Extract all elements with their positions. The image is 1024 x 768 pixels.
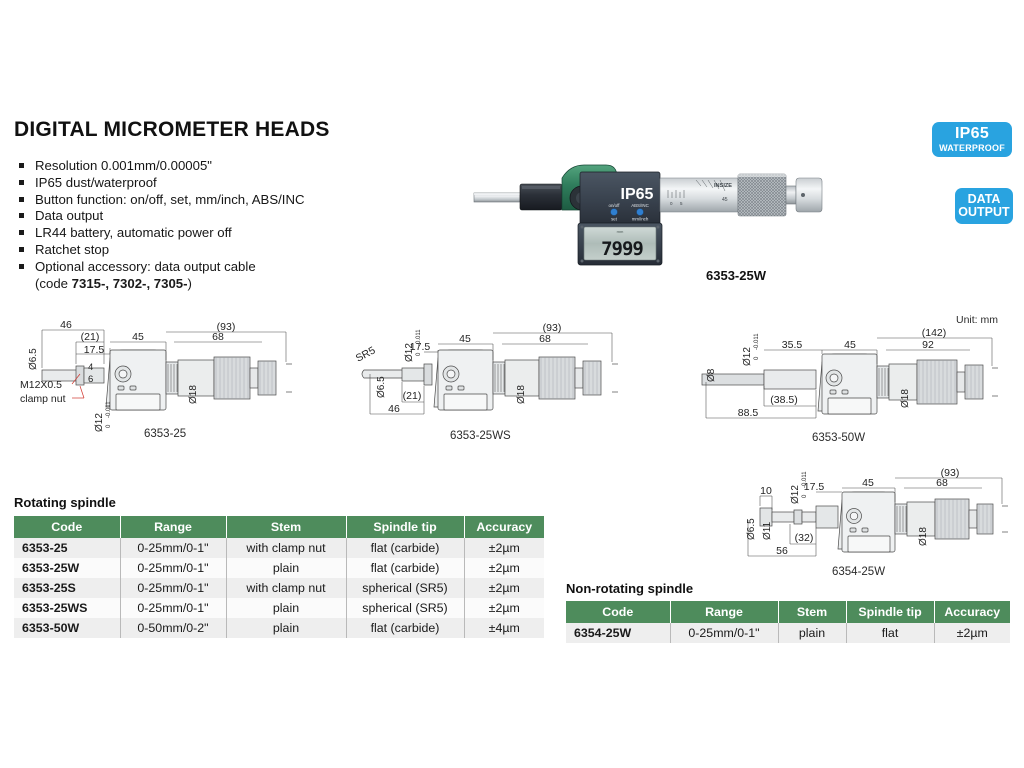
dim-32: (32) bbox=[795, 532, 814, 544]
drawing-label: 6354-25W bbox=[832, 566, 885, 578]
rotating-spindle-table: Code Range Stem Spindle tip Accuracy 635… bbox=[14, 516, 544, 638]
cell-spindle-tip: flat (carbide) bbox=[346, 618, 464, 638]
column-header-accuracy: Accuracy bbox=[464, 516, 544, 538]
list-item-label: IP65 dust/waterproof bbox=[35, 175, 157, 190]
list-item-label: Optional accessory: data output cable bbox=[35, 259, 256, 274]
table-row: 6354-25W 0-25mm/0-1" plain flat ±2µm bbox=[566, 623, 1010, 643]
cell-stem: plain bbox=[778, 623, 846, 643]
dim-45: 45 bbox=[459, 333, 471, 345]
photo-caption: 6353-25W bbox=[706, 268, 766, 283]
drawing-6353-25: 46 (21) 17.5 45 68 (93) 4 6 Ø6.5 Ø12 0 -… bbox=[14, 312, 314, 452]
dim-dia-18: Ø18 bbox=[918, 527, 929, 546]
column-header-range: Range bbox=[120, 516, 226, 538]
cell-code: 6353-50W bbox=[14, 618, 120, 638]
svg-text:45: 45 bbox=[722, 197, 728, 203]
column-header-accuracy: Accuracy bbox=[934, 601, 1010, 623]
label-clamp-nut: clamp nut bbox=[20, 393, 66, 405]
dim-93: (93) bbox=[543, 322, 562, 334]
badge-ip65-line1: IP65 bbox=[955, 126, 989, 142]
dim-dia-18: Ø18 bbox=[900, 389, 911, 408]
dim-88-5: 88.5 bbox=[738, 407, 759, 419]
dim-dia-12: Ø12 bbox=[94, 413, 105, 432]
list-item: IP65 dust/waterproof bbox=[18, 175, 418, 192]
cell-code: 6353-25S bbox=[14, 578, 120, 598]
label-thread: M12X0.5 bbox=[20, 379, 62, 391]
bullet-square-icon bbox=[19, 180, 24, 185]
code-suffix: ) bbox=[188, 276, 192, 291]
drawing-label: 6353-25WS bbox=[450, 430, 511, 442]
list-item: Data output bbox=[18, 208, 418, 225]
cell-stem: with clamp nut bbox=[226, 578, 346, 598]
cell-range: 0-25mm/0-1" bbox=[670, 623, 778, 643]
dim-dia-6-5: Ø6.5 bbox=[376, 376, 387, 398]
list-item-label: LR44 battery, automatic power off bbox=[35, 225, 232, 240]
svg-text:-0.011: -0.011 bbox=[754, 333, 760, 350]
list-item: Optional accessory: data output cable bbox=[18, 259, 418, 276]
column-header-stem: Stem bbox=[778, 601, 846, 623]
cell-stem: plain bbox=[226, 598, 346, 618]
cell-code: 6353-25WS bbox=[14, 598, 120, 618]
dim-93: (93) bbox=[941, 468, 960, 479]
dim-17-5: 17.5 bbox=[84, 344, 105, 356]
cell-stem: plain bbox=[226, 618, 346, 638]
column-header-code: Code bbox=[14, 516, 120, 538]
cell-stem: with clamp nut bbox=[226, 538, 346, 558]
cell-spindle-tip: spherical (SR5) bbox=[346, 598, 464, 618]
bullet-square-icon bbox=[19, 264, 24, 269]
cell-code: 6353-25 bbox=[14, 538, 120, 558]
table-row: 6353-25W 0-25mm/0-1" plain flat (carbide… bbox=[14, 558, 544, 578]
non-rotating-spindle-title: Non-rotating spindle bbox=[566, 581, 693, 596]
column-header-code: Code bbox=[566, 601, 670, 623]
code-prefix: (code bbox=[35, 276, 72, 291]
cell-range: 0-25mm/0-1" bbox=[120, 538, 226, 558]
feature-list: Resolution 0.001mm/0.00005" IP65 dust/wa… bbox=[18, 158, 418, 292]
svg-text:0: 0 bbox=[106, 424, 112, 428]
dim-45: 45 bbox=[844, 339, 856, 351]
dim-45: 45 bbox=[862, 477, 874, 489]
table-row: 6353-25 0-25mm/0-1" with clamp nut flat … bbox=[14, 538, 544, 558]
cell-accuracy: ±4µm bbox=[464, 618, 544, 638]
product-photo: IP65 on/off set ABS/INC mm/inch mm 7999 … bbox=[470, 160, 830, 270]
table-row: 6353-25WS 0-25mm/0-1" plain spherical (S… bbox=[14, 598, 544, 618]
svg-text:mm: mm bbox=[617, 229, 624, 234]
dim-46: 46 bbox=[388, 403, 400, 415]
list-item-label: Ratchet stop bbox=[35, 242, 109, 257]
dim-dia-8: Ø8 bbox=[706, 368, 717, 382]
svg-text:0: 0 bbox=[754, 356, 760, 360]
table-row: 6353-50W 0-50mm/0-2" plain flat (carbide… bbox=[14, 618, 544, 638]
table-header-row: Code Range Stem Spindle tip Accuracy bbox=[566, 601, 1010, 623]
photo-button-right-top-label: ABS/INC bbox=[631, 203, 649, 208]
photo-button-left-top-label: on/off bbox=[609, 203, 621, 208]
dim-142: (142) bbox=[922, 327, 947, 339]
photo-button-left-bottom-label: set bbox=[611, 217, 618, 222]
table-header-row: Code Range Stem Spindle tip Accuracy bbox=[14, 516, 544, 538]
cell-stem: plain bbox=[226, 558, 346, 578]
dim-68: 68 bbox=[539, 333, 551, 345]
dim-93: (93) bbox=[217, 321, 236, 333]
dim-56: 56 bbox=[776, 545, 788, 557]
drawing-label: 6353-25 bbox=[144, 428, 186, 440]
accessory-codes: 7315-, 7302-, 7305- bbox=[72, 276, 188, 291]
drawing-6354-25W: 10 17.5 45 68 (93) (32) 56 Ø6.5 Ø11 Ø12 … bbox=[742, 468, 1017, 588]
cell-spindle-tip: spherical (SR5) bbox=[346, 578, 464, 598]
svg-text:0: 0 bbox=[802, 494, 808, 498]
dim-sr5: SR5 bbox=[354, 344, 378, 364]
bullet-square-icon bbox=[19, 213, 24, 218]
bullet-square-icon bbox=[19, 230, 24, 235]
cell-code: 6353-25W bbox=[14, 558, 120, 578]
dim-10: 10 bbox=[760, 485, 772, 497]
cell-accuracy: ±2µm bbox=[464, 578, 544, 598]
cell-range: 0-25mm/0-1" bbox=[120, 598, 226, 618]
photo-button-right-bottom-label: mm/inch bbox=[632, 217, 649, 222]
column-header-range: Range bbox=[670, 601, 778, 623]
cell-spindle-tip: flat bbox=[846, 623, 934, 643]
svg-text:-0.011: -0.011 bbox=[802, 471, 808, 488]
cell-accuracy: ±2µm bbox=[464, 598, 544, 618]
photo-brand-mark: INSIZE bbox=[714, 183, 732, 189]
badge-ip65-waterproof: IP65 WATERPROOF bbox=[932, 122, 1012, 157]
badge-data-output: DATA OUTPUT bbox=[955, 188, 1013, 224]
list-item: Ratchet stop bbox=[18, 242, 418, 259]
dim-35-5: 35.5 bbox=[782, 339, 803, 351]
list-item-label: Resolution 0.001mm/0.00005" bbox=[35, 158, 212, 173]
dim-92: 92 bbox=[922, 339, 934, 351]
drawing-6353-25WS: 17.5 45 68 (93) (21) 46 SR5 Ø6.5 Ø12 0 -… bbox=[352, 318, 642, 453]
bullet-square-icon bbox=[19, 247, 24, 252]
accessory-code-line: (code 7315-, 7302-, 7305-) bbox=[18, 276, 418, 293]
badge-ip65-line2: WATERPROOF bbox=[939, 144, 1005, 153]
photo-lcd-value: 7999 bbox=[601, 238, 643, 260]
dim-dia-18: Ø18 bbox=[516, 385, 527, 404]
dim-46: 46 bbox=[60, 319, 72, 331]
list-item: LR44 battery, automatic power off bbox=[18, 225, 418, 242]
bullet-square-icon bbox=[19, 197, 24, 202]
cell-spindle-tip: flat (carbide) bbox=[346, 538, 464, 558]
list-item-label: Data output bbox=[35, 208, 103, 223]
photo-body-text: IP65 bbox=[621, 186, 654, 203]
page-title: DIGITAL MICROMETER HEADS bbox=[14, 118, 330, 142]
dim-dia-12: Ø12 bbox=[404, 343, 415, 362]
non-rotating-spindle-table: Code Range Stem Spindle tip Accuracy 635… bbox=[566, 601, 1010, 643]
badge-data-line2: OUTPUT bbox=[958, 206, 1009, 219]
dim-dia-12: Ø12 bbox=[742, 347, 753, 366]
dim-4: 4 bbox=[88, 362, 93, 373]
svg-text:-0.011: -0.011 bbox=[106, 401, 112, 418]
cell-spindle-tip: flat (carbide) bbox=[346, 558, 464, 578]
bullet-square-icon bbox=[19, 163, 24, 168]
cell-range: 0-25mm/0-1" bbox=[120, 558, 226, 578]
dim-21: (21) bbox=[81, 331, 100, 343]
cell-accuracy: ±2µm bbox=[464, 558, 544, 578]
cell-range: 0-50mm/0-2" bbox=[120, 618, 226, 638]
cell-accuracy: ±2µm bbox=[464, 538, 544, 558]
list-item: Resolution 0.001mm/0.00005" bbox=[18, 158, 418, 175]
rotating-spindle-title: Rotating spindle bbox=[14, 495, 116, 510]
drawing-6353-50W: 35.5 45 92 (142) (38.5) 88.5 Ø8 Ø12 0 -0… bbox=[700, 320, 1010, 455]
dim-dia-12: Ø12 bbox=[790, 485, 801, 504]
dim-21: (21) bbox=[403, 390, 422, 402]
dim-38-5: (38.5) bbox=[770, 394, 797, 406]
drawing-label: 6353-50W bbox=[812, 432, 865, 444]
dim-dia-11: Ø11 bbox=[762, 521, 773, 540]
dim-45: 45 bbox=[132, 331, 144, 343]
cell-accuracy: ±2µm bbox=[934, 623, 1010, 643]
dim-dia-18: Ø18 bbox=[188, 385, 199, 404]
dim-dia-6-5: Ø6.5 bbox=[28, 348, 39, 370]
cell-code: 6354-25W bbox=[566, 623, 670, 643]
dim-dia-6-5: Ø6.5 bbox=[746, 518, 757, 540]
cell-range: 0-25mm/0-1" bbox=[120, 578, 226, 598]
column-header-spindle-tip: Spindle tip bbox=[346, 516, 464, 538]
table-row: 6353-25S 0-25mm/0-1" with clamp nut sphe… bbox=[14, 578, 544, 598]
dim-6: 6 bbox=[88, 374, 93, 385]
column-header-stem: Stem bbox=[226, 516, 346, 538]
list-item: Button function: on/off, set, mm/inch, A… bbox=[18, 192, 418, 209]
column-header-spindle-tip: Spindle tip bbox=[846, 601, 934, 623]
svg-text:-0.011: -0.011 bbox=[416, 329, 422, 346]
list-item-label: Button function: on/off, set, mm/inch, A… bbox=[35, 192, 305, 207]
